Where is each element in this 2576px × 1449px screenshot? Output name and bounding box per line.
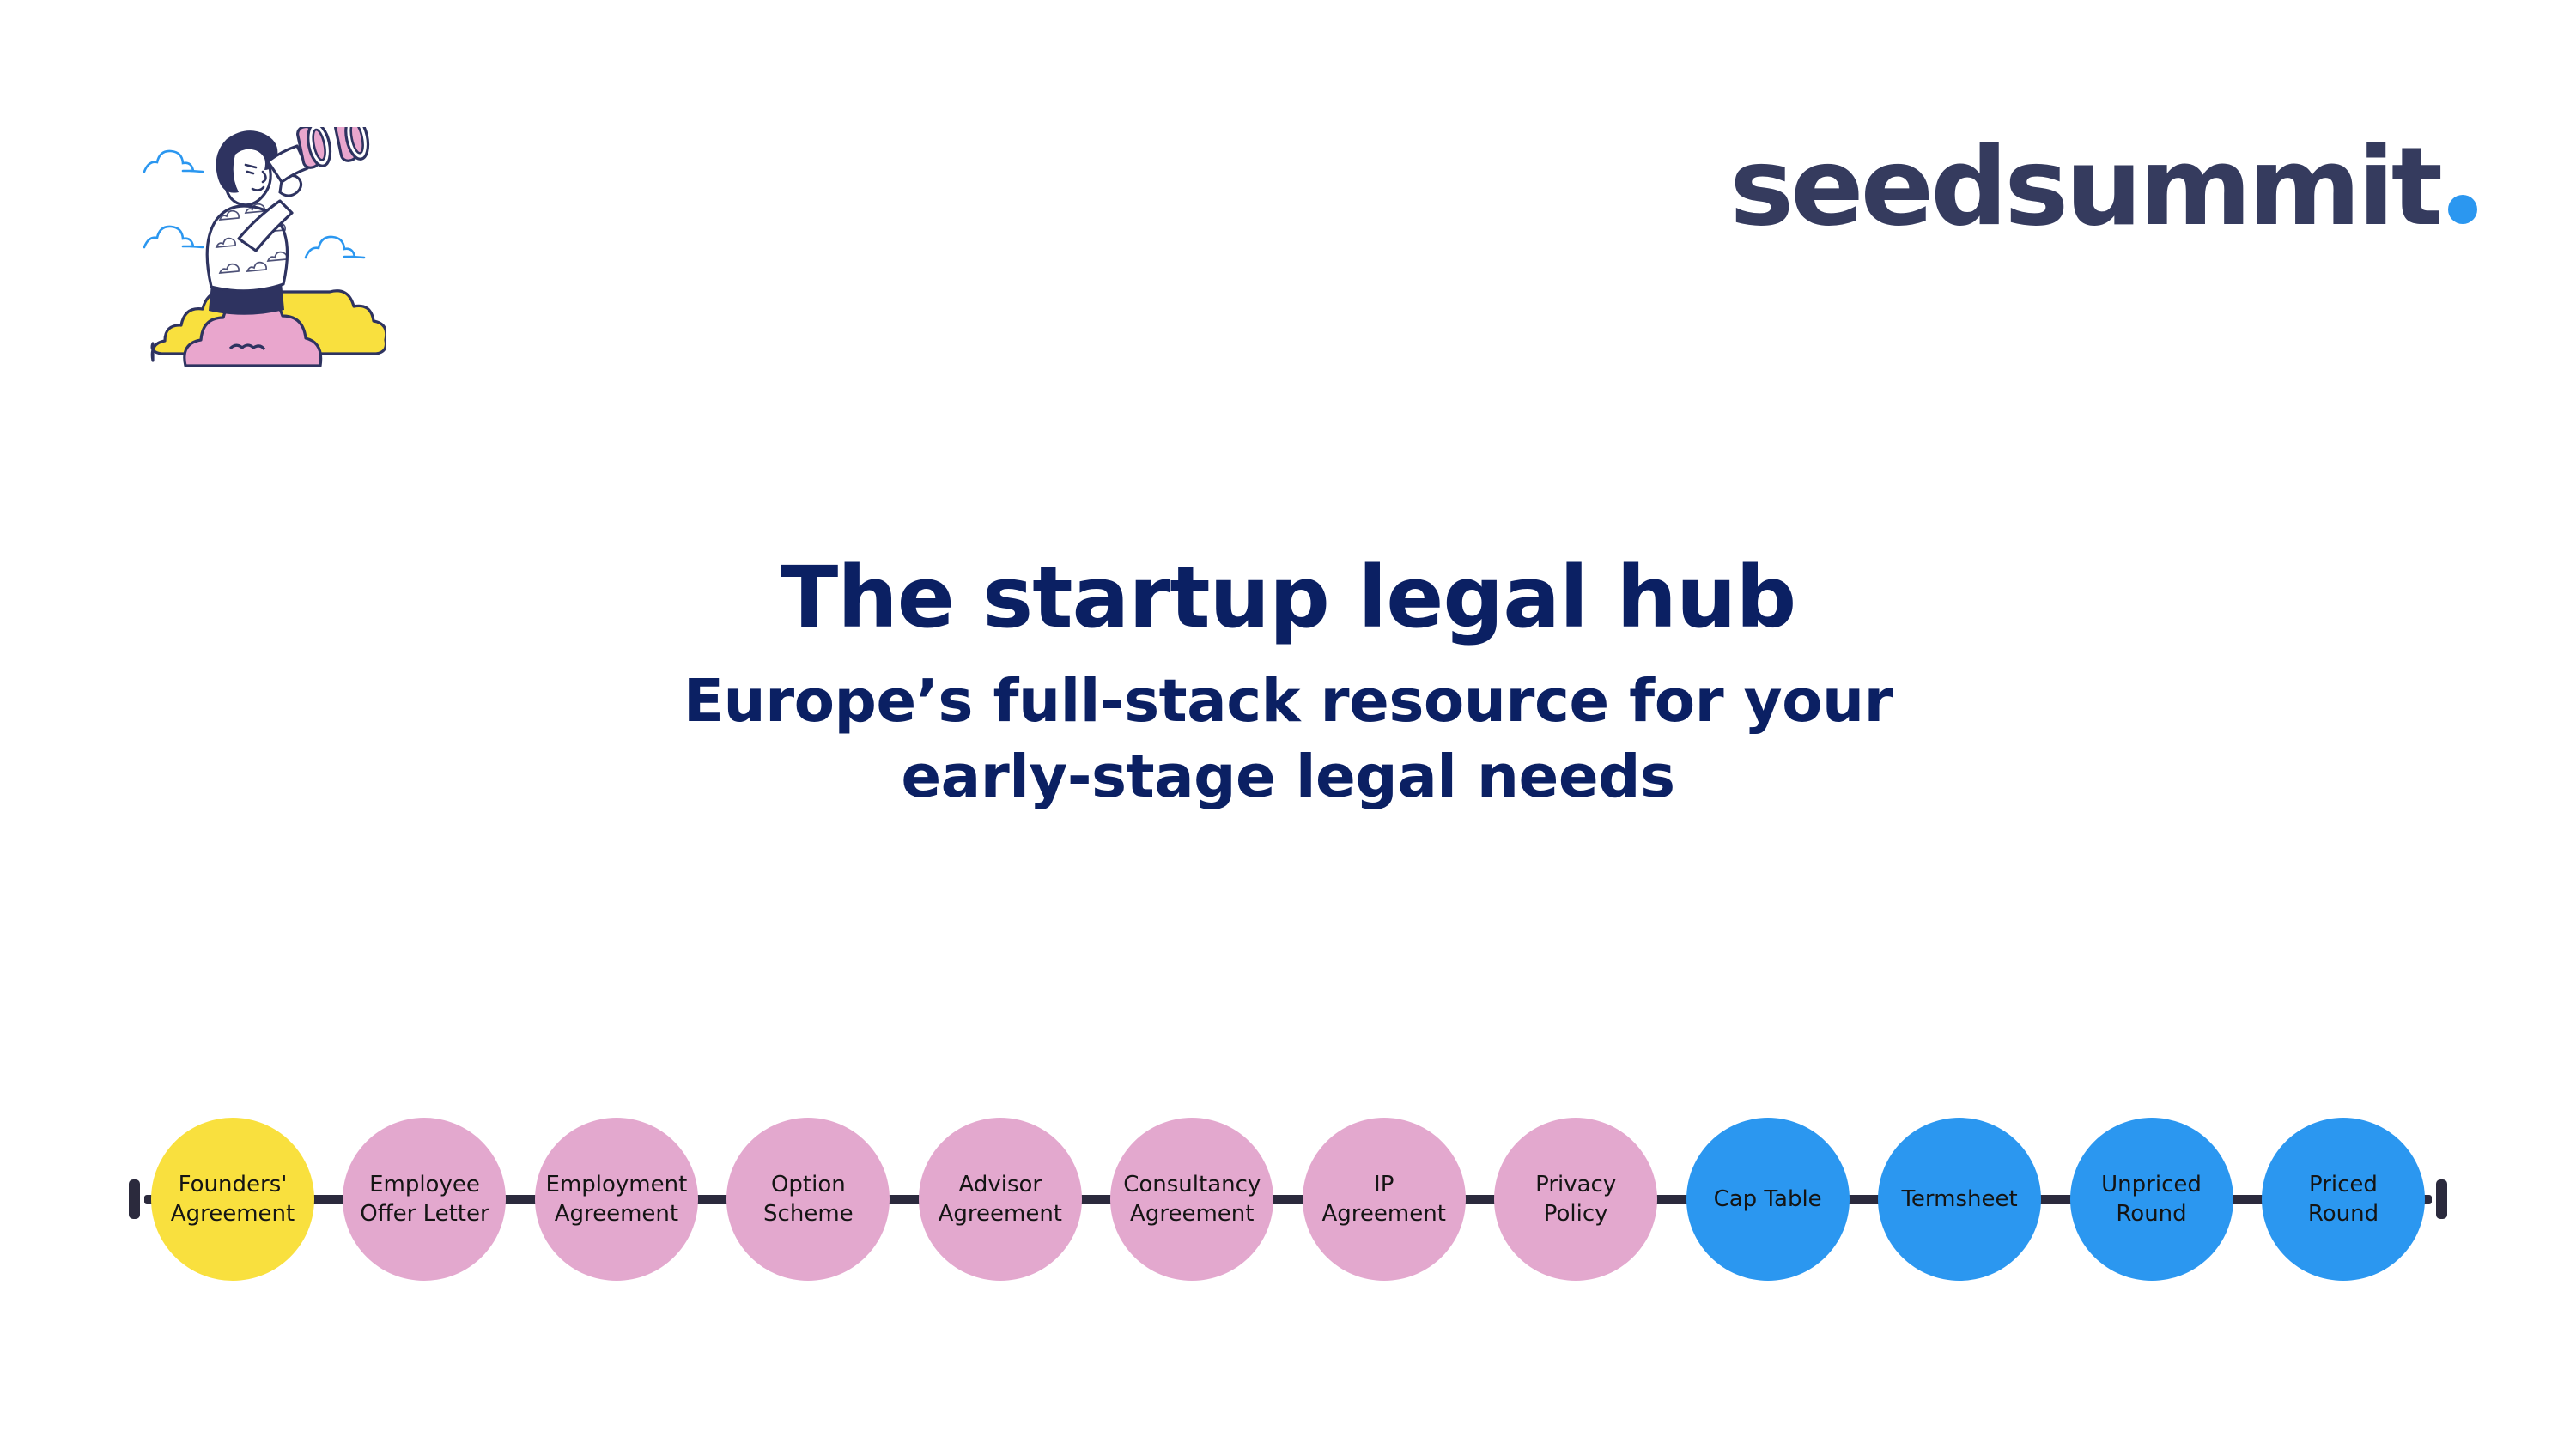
timeline-node[interactable]: Privacy Policy bbox=[1494, 1118, 1657, 1281]
brand-logo[interactable]: seedsummit bbox=[1729, 133, 2477, 241]
binoculars-icon bbox=[268, 127, 372, 182]
page-subtitle: Europe’s full-stack resource for your ea… bbox=[0, 664, 2576, 815]
timeline-node-label: IP Agreement bbox=[1314, 1170, 1455, 1229]
timeline-node-label: Founders' Agreement bbox=[162, 1170, 303, 1229]
timeline-node[interactable]: Termsheet bbox=[1878, 1118, 2041, 1281]
hero-illustration bbox=[137, 127, 386, 393]
timeline-node[interactable]: IP Agreement bbox=[1303, 1118, 1466, 1281]
timeline-node[interactable]: Consultancy Agreement bbox=[1110, 1118, 1273, 1281]
slide-root: seedsummit The startup legal hub Europe’… bbox=[0, 0, 2576, 1449]
brand-wordmark: seedsummit bbox=[1729, 133, 2439, 241]
timeline-node-list: Founders' AgreementEmployee Offer Letter… bbox=[151, 1113, 2425, 1285]
timeline-node[interactable]: Cap Table bbox=[1686, 1118, 1850, 1281]
timeline-node[interactable]: Advisor Agreement bbox=[919, 1118, 1082, 1281]
timeline-node-label: Advisor Agreement bbox=[930, 1170, 1071, 1229]
timeline-start-cap-icon bbox=[129, 1179, 140, 1219]
timeline-node-label: Employee Offer Letter bbox=[351, 1170, 497, 1229]
timeline-node-label: Termsheet bbox=[1893, 1185, 2026, 1214]
timeline-node-label: Consultancy Agreement bbox=[1115, 1170, 1269, 1229]
timeline-node[interactable]: Founders' Agreement bbox=[151, 1118, 314, 1281]
timeline-node[interactable]: Priced Round bbox=[2262, 1118, 2425, 1281]
timeline-node[interactable]: Employment Agreement bbox=[535, 1118, 698, 1281]
startup-legal-timeline: Founders' AgreementEmployee Offer Letter… bbox=[129, 1113, 2447, 1285]
headings-block: The startup legal hub Europe’s full-stac… bbox=[0, 549, 2576, 815]
page-subtitle-line-1: Europe’s full-stack resource for your bbox=[683, 667, 1893, 736]
page-title: The startup legal hub bbox=[0, 549, 2576, 648]
timeline-node-label: Privacy Policy bbox=[1527, 1170, 1625, 1229]
timeline-node-label: Cap Table bbox=[1705, 1185, 1831, 1214]
figure bbox=[207, 127, 371, 315]
page-subtitle-line-2: early-stage legal needs bbox=[901, 743, 1674, 811]
timeline-node-label: Priced Round bbox=[2300, 1170, 2387, 1229]
timeline-end-cap-icon bbox=[2436, 1179, 2447, 1219]
timeline-node-label: Option Scheme bbox=[755, 1170, 862, 1229]
timeline-node-label: Unpriced Round bbox=[2093, 1170, 2210, 1229]
timeline-node[interactable]: Option Scheme bbox=[726, 1118, 890, 1281]
brand-dot-icon bbox=[2448, 195, 2477, 224]
timeline-node[interactable]: Unpriced Round bbox=[2070, 1118, 2233, 1281]
timeline-node-label: Employment Agreement bbox=[538, 1170, 696, 1229]
timeline-node[interactable]: Employee Offer Letter bbox=[343, 1118, 506, 1281]
